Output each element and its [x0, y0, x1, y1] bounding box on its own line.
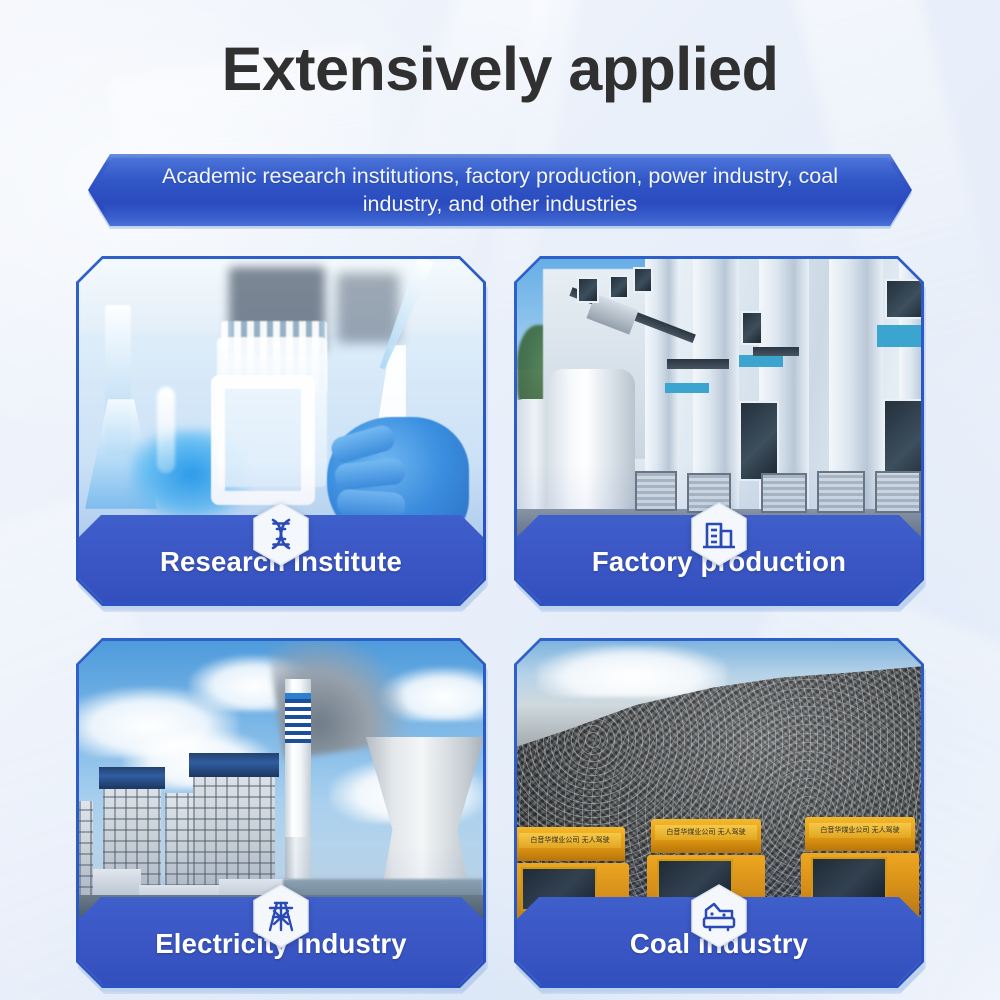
factory-grille	[817, 471, 865, 513]
factory-window	[741, 311, 763, 345]
mining-truck-icon	[690, 884, 748, 948]
factory-window	[633, 267, 653, 293]
cards-grid: Research Institute	[76, 256, 924, 976]
lab-glove-finger	[336, 489, 406, 520]
factory-window	[577, 277, 599, 303]
banner-text: Academic research institutions, factory …	[130, 162, 870, 218]
page-title: Extensively applied	[0, 34, 1000, 104]
truck-cab	[811, 857, 887, 901]
plant-structure-top	[99, 767, 165, 789]
factory-building-icon	[690, 502, 748, 566]
factory-pipe	[753, 347, 799, 356]
lab-dark-box	[337, 273, 399, 343]
plant-structure-top	[189, 753, 279, 777]
factory-window	[609, 275, 629, 299]
truck-sign: 白音华煤业公司 无人驾驶	[519, 833, 621, 848]
factory-grille	[761, 473, 807, 513]
factory-pipe	[667, 359, 729, 369]
card-coal-industry[interactable]: 白音华煤业公司 无人驾驶 白音华煤业公司 无人驾驶	[514, 638, 924, 988]
factory-grille	[875, 471, 921, 513]
lab-highlight	[157, 387, 175, 473]
power-pylon-icon	[252, 884, 310, 948]
truck-sign: 白音华煤业公司 无人驾驶	[655, 825, 757, 840]
factory-blue-band	[739, 355, 783, 367]
lab-rack-holder	[211, 375, 315, 505]
factory-blue-band	[665, 383, 709, 393]
factory-window	[885, 279, 921, 319]
factory-grille	[635, 471, 677, 511]
truck-sign: 白音华煤业公司 无人驾驶	[809, 823, 911, 838]
dna-helix-icon	[252, 502, 310, 566]
page-root: Extensively applied Academic research in…	[0, 0, 1000, 1000]
subtitle-banner: Academic research institutions, factory …	[88, 154, 912, 226]
factory-blue-band	[877, 325, 921, 347]
card-electricity-industry[interactable]: Electricity industry	[76, 638, 486, 988]
cloud	[537, 645, 727, 697]
factory-window	[739, 401, 779, 481]
card-research-institute[interactable]: Research Institute	[76, 256, 486, 606]
smokestack-stripes	[285, 699, 311, 743]
banner-shape: Academic research institutions, factory …	[88, 154, 912, 226]
card-factory-production[interactable]: Factory production	[514, 256, 924, 606]
